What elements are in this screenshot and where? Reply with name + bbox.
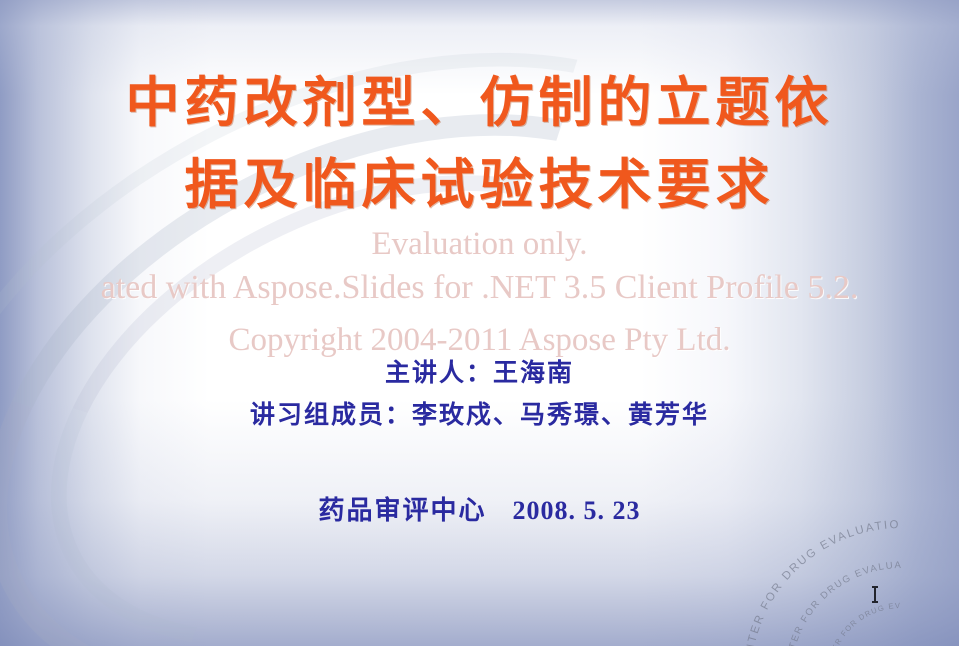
organization-label: 药品审评中心 [318,496,486,526]
seal-ring-1-label: CENTER FOR DRUG EVALUATION [743,456,901,646]
title-line-2: 据及临床试验技术要求 [0,144,959,226]
aspose-watermark-line-1: Evaluation only. [0,222,959,266]
aspose-watermark-line-2: ated with Aspose.Slides for .NET 3.5 Cli… [0,266,959,310]
presentation-slide: CENTER FOR DRUG EVALUATION CENTER FOR DR… [0,0,959,646]
date-label: 2008. 5. 23 [513,496,641,525]
text-cursor-caret [874,586,876,603]
presenter-line: 主讲人：王海南 [0,352,959,394]
center-for-drug-evaluation-seal-icon: CENTER FOR DRUG EVALUATION CENTER FOR DR… [743,456,959,646]
presenter-block: 主讲人：王海南 讲习组成员：李玫戍、马秀璟、黄芳华 [0,352,959,436]
slide-title: 中药改剂型、仿制的立题依 据及临床试验技术要求 [0,62,959,226]
seal-ring-1-textpath: CENTER FOR DRUG EVALUATION [743,456,901,646]
team-members-line: 讲习组成员：李玫戍、马秀璟、黄芳华 [0,394,959,436]
title-line-1: 中药改剂型、仿制的立题依 [0,62,959,144]
slide-footer: 药品审评中心2008. 5. 23 [0,490,959,527]
